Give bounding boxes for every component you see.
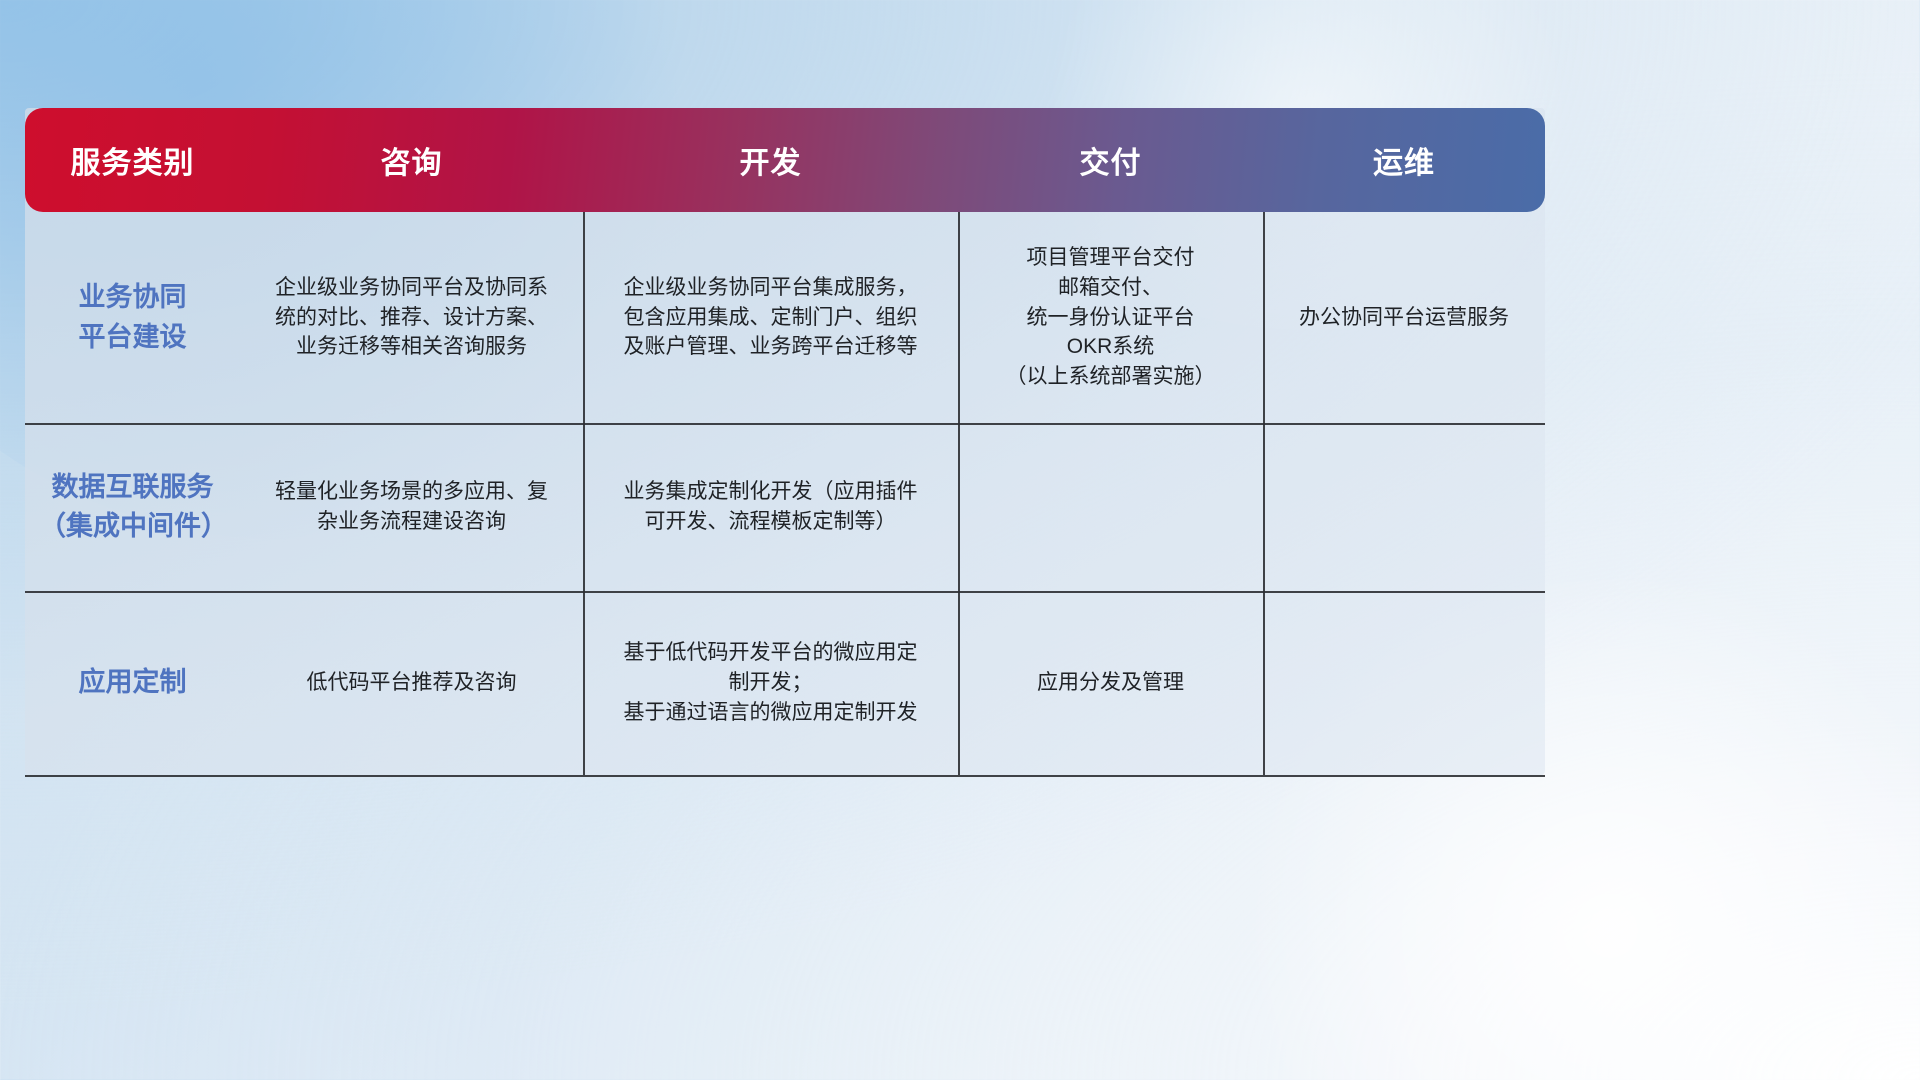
row-label-data-interconnection-service: 数据互联服务 （集成中间件）	[25, 423, 240, 591]
cell-operations-row-3	[1263, 591, 1545, 775]
table-header-row: 服务类别 咨询 开发 交付 运维	[25, 108, 1545, 212]
row-divider-1	[25, 423, 1545, 425]
cell-operations-row-1: 办公协同平台运营服务	[1263, 212, 1545, 423]
cell-delivery-row-1: 项目管理平台交付 邮箱交付、 统一身份认证平台 OKR系统 （以上系统部署实施）	[958, 212, 1263, 423]
table-header-operations: 运维	[1263, 138, 1545, 182]
cell-development-row-3: 基于低代码开发平台的微应用定 制开发； 基于通过语言的微应用定制开发	[583, 591, 958, 775]
column-divider-delivery-operations	[1263, 212, 1265, 775]
table-row: 业务协同 平台建设 企业级业务协同平台及协同系 统的对比、推荐、设计方案、 业务…	[25, 212, 1545, 423]
row-label-application-customization: 应用定制	[25, 591, 240, 775]
column-divider-consulting-development	[583, 212, 585, 775]
cell-delivery-row-3: 应用分发及管理	[958, 591, 1263, 775]
cell-consulting-row-2: 轻量化业务场景的多应用、复 杂业务流程建设咨询	[240, 423, 583, 591]
cell-development-row-1: 企业级业务协同平台集成服务， 包含应用集成、定制门户、组织 及账户管理、业务跨平…	[583, 212, 958, 423]
table-body: 业务协同 平台建设 企业级业务协同平台及协同系 统的对比、推荐、设计方案、 业务…	[25, 212, 1545, 775]
cell-delivery-row-2	[958, 423, 1263, 591]
column-divider-development-delivery	[958, 212, 960, 775]
table-row: 应用定制 低代码平台推荐及咨询 基于低代码开发平台的微应用定 制开发； 基于通过…	[25, 591, 1545, 775]
table-header-service-category: 服务类别	[25, 138, 240, 182]
cell-consulting-row-1: 企业级业务协同平台及协同系 统的对比、推荐、设计方案、 业务迁移等相关咨询服务	[240, 212, 583, 423]
table-header-delivery: 交付	[958, 138, 1263, 182]
row-divider-3	[25, 775, 1545, 777]
cell-development-row-2: 业务集成定制化开发（应用插件 可开发、流程模板定制等）	[583, 423, 958, 591]
service-matrix-table: 服务类别 咨询 开发 交付 运维 业务协同 平台建设 企业级业务协同平台及协同系…	[25, 108, 1545, 775]
cell-operations-row-2	[1263, 423, 1545, 591]
row-divider-2	[25, 591, 1545, 593]
table-row: 数据互联服务 （集成中间件） 轻量化业务场景的多应用、复 杂业务流程建设咨询 业…	[25, 423, 1545, 591]
row-label-business-collaboration-platform: 业务协同 平台建设	[25, 212, 240, 423]
table-header-development: 开发	[583, 138, 958, 182]
table-header-consulting: 咨询	[240, 138, 583, 182]
cell-consulting-row-3: 低代码平台推荐及咨询	[240, 591, 583, 775]
